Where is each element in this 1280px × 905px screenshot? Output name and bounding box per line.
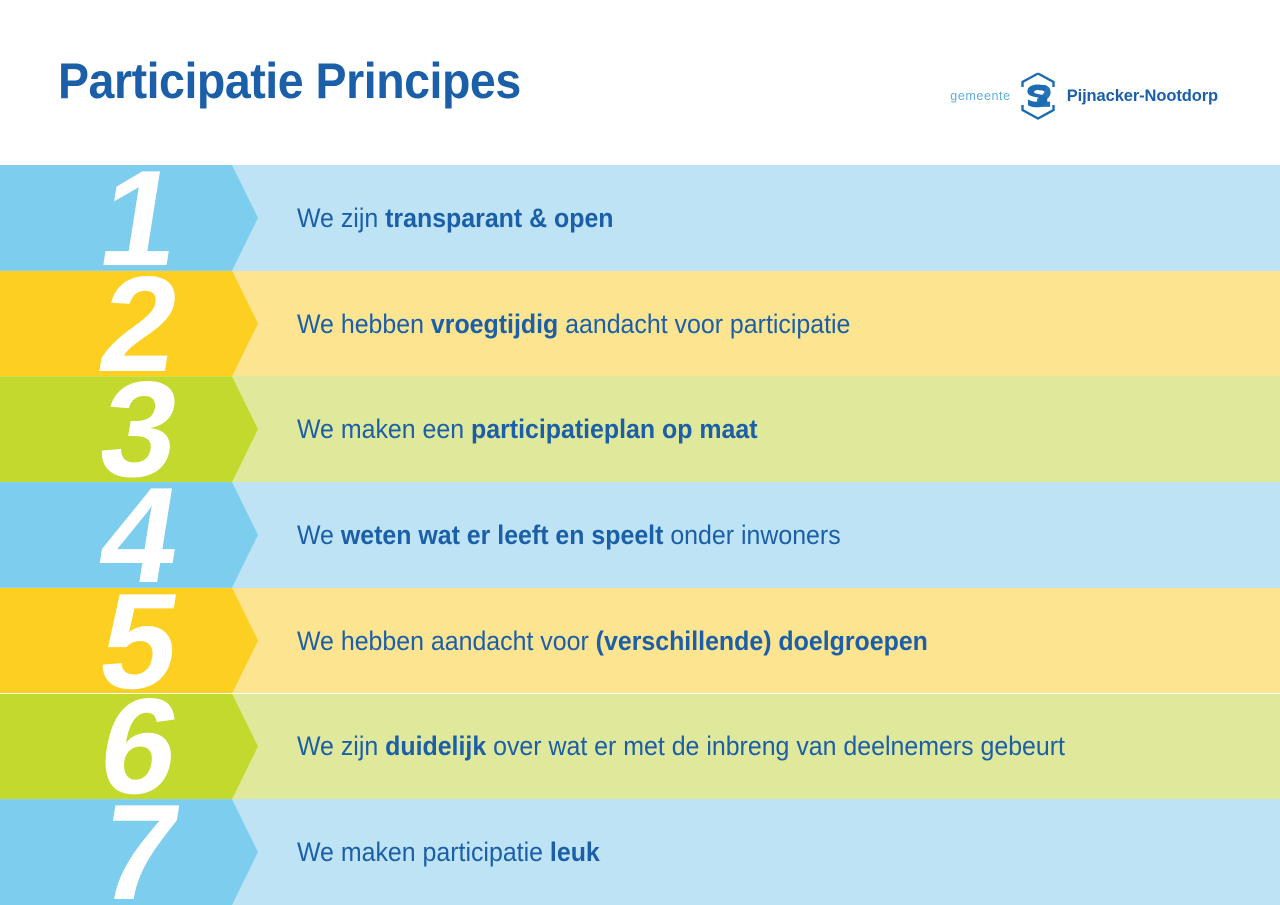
principle-emphasis-1: transparant & open: [385, 203, 613, 233]
row-chevron-6: [0, 694, 258, 800]
principle-text-7: We maken participatie leuk: [297, 835, 600, 869]
principle-row-7: 7 We maken participatie leuk: [0, 799, 1280, 905]
principles-list: 1 We zijn transparant & open 2 We hebben…: [0, 165, 1280, 905]
principle-text-4: We weten wat er leeft en speelt onder in…: [297, 518, 841, 552]
principle-emphasis-4: weten wat er leeft en speelt: [341, 520, 664, 550]
principle-row-5: 5 We hebben aandacht voor (verschillende…: [0, 588, 1280, 694]
principle-emphasis-5: (verschillende) doelgroepen: [596, 626, 928, 656]
principle-row-2: 2 We hebben vroegtijdig aandacht voor pa…: [0, 271, 1280, 377]
principle-row-6: 6 We zijn duidelijk over wat er met de i…: [0, 694, 1280, 800]
row-chevron-4: [0, 482, 258, 588]
row-chevron-7: [0, 799, 258, 905]
principle-trail-4: onder inwoners: [663, 520, 840, 550]
row-chevron-3: [0, 376, 258, 482]
principle-text-3: We maken een participatieplan op maat: [297, 412, 758, 446]
principle-text-5: We hebben aandacht voor (verschillende) …: [297, 624, 928, 658]
row-chevron-1: [0, 165, 258, 271]
principle-row-4: 4 We weten wat er leeft en speelt onder …: [0, 482, 1280, 588]
principle-emphasis-6: duidelijk: [385, 731, 486, 761]
principle-trail-2: aandacht voor participatie: [558, 309, 850, 339]
principle-text-1: We zijn transparant & open: [297, 201, 614, 235]
principle-lead-2: We hebben: [297, 309, 431, 339]
row-chevron-5: [0, 588, 258, 694]
principle-row-3: 3 We maken een participatieplan op maat: [0, 376, 1280, 482]
principle-row-1: 1 We zijn transparant & open: [0, 165, 1280, 271]
principle-lead-3: We maken een: [297, 414, 471, 444]
principle-text-6: We zijn duidelijk over wat er met de inb…: [297, 729, 1065, 763]
poster-header: Participatie Principes gemeente: [0, 0, 1280, 165]
principle-text-2: We hebben vroegtijdig aandacht voor part…: [297, 307, 850, 341]
principle-lead-5: We hebben aandacht voor: [297, 626, 596, 656]
principle-lead-7: We maken participatie: [297, 837, 550, 867]
principle-emphasis-2: vroegtijdig: [431, 309, 558, 339]
participation-principles-poster: Participatie Principes gemeente: [0, 0, 1280, 905]
principle-emphasis-7: leuk: [550, 837, 600, 867]
logo-municipality-name: Pijnacker-Nootdorp: [1067, 87, 1218, 106]
principle-lead-6: We zijn: [297, 731, 385, 761]
principle-lead-4: We: [297, 520, 341, 550]
principle-trail-6: over wat er met de inbreng van deelnemer…: [486, 731, 1065, 761]
principle-emphasis-3: participatieplan op maat: [471, 414, 758, 444]
page-title: Participatie Principes: [58, 52, 521, 110]
logo-prefix-label: gemeente: [950, 89, 1010, 104]
row-chevron-2: [0, 271, 258, 377]
municipality-logo: gemeente Pijnacker-Nootdorp: [950, 70, 1218, 122]
double-s-hexagon-icon: [1018, 71, 1058, 121]
principle-lead-1: We zijn: [297, 203, 385, 233]
